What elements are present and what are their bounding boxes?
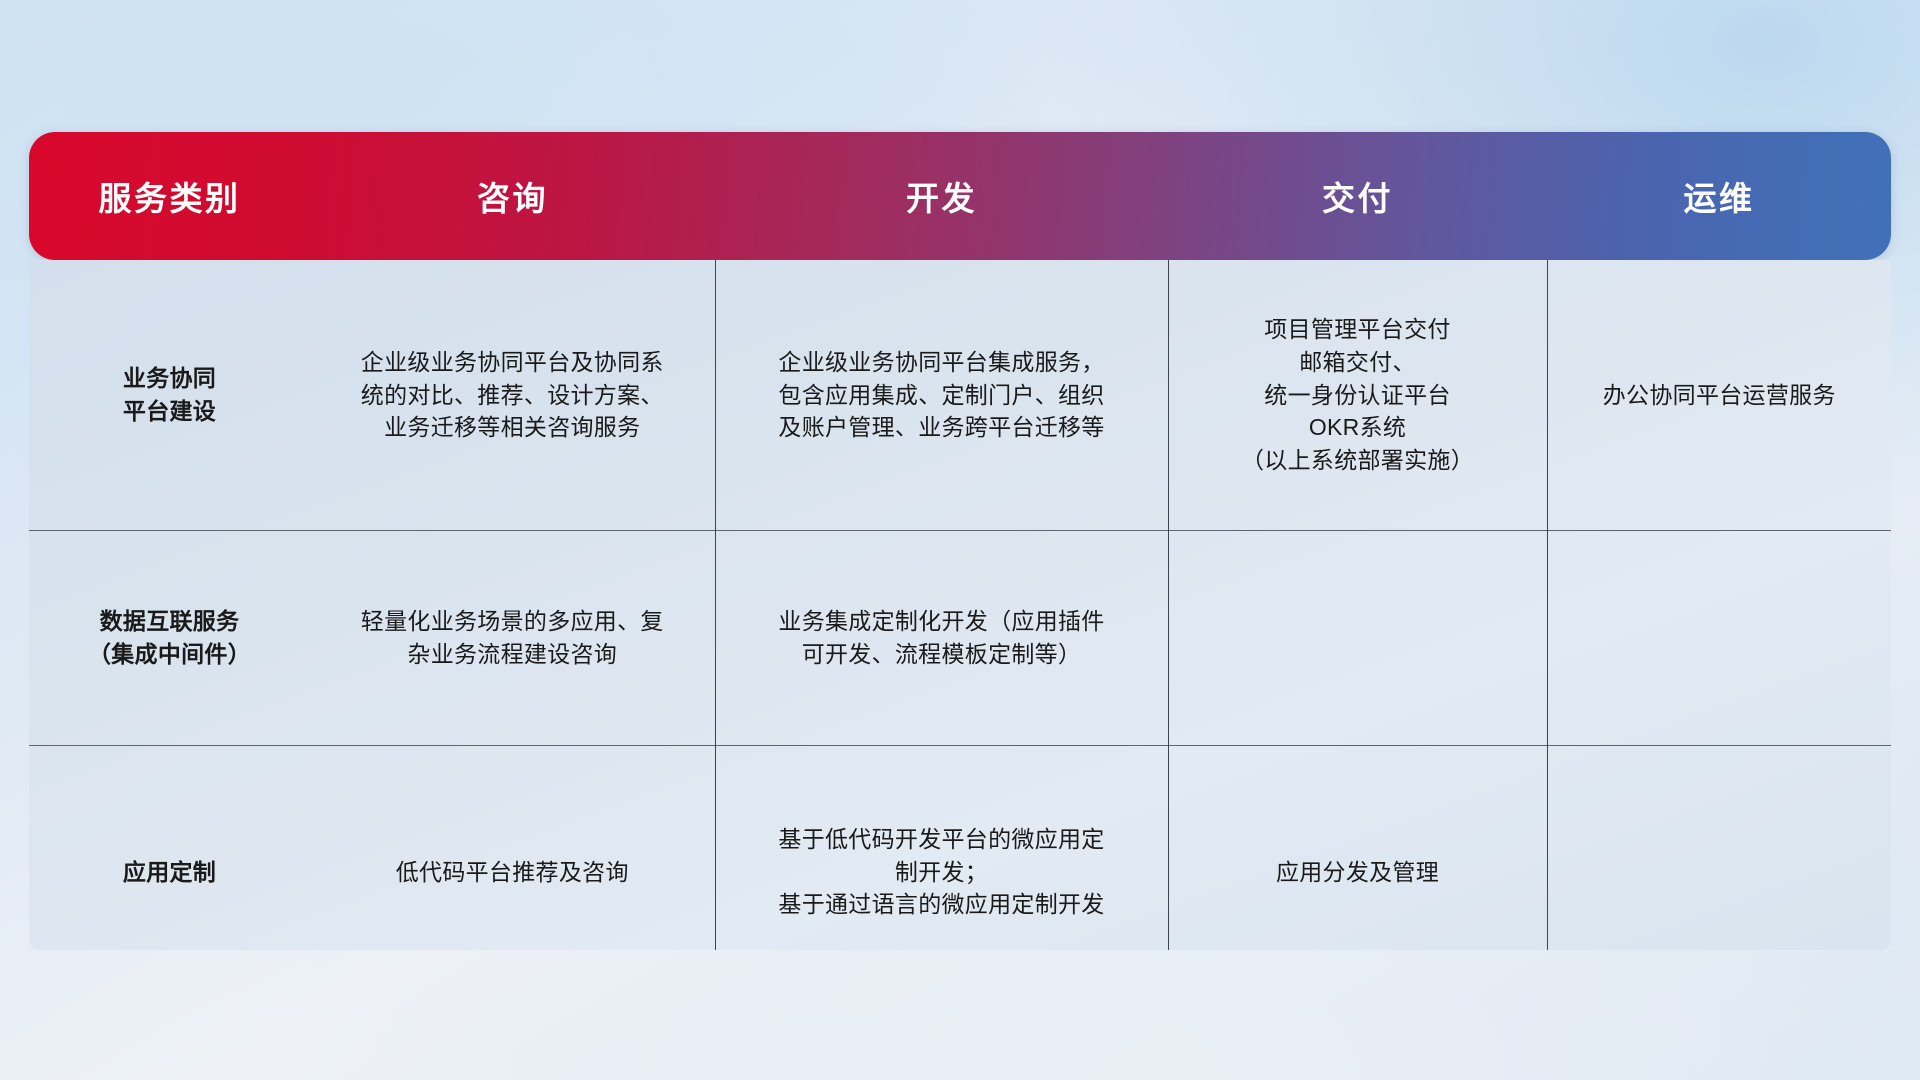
cell-delivery-row3: 应用分发及管理 — [1168, 746, 1547, 951]
column-header-label: 运维 — [1684, 172, 1755, 220]
cell-operations-row3 — [1547, 746, 1891, 951]
table-row: 数据互联服务 （集成中间件） 轻量化业务场景的多应用、复 杂业务流程建设咨询 业… — [29, 531, 1891, 746]
column-header-service-category: 服务类别 — [29, 132, 310, 260]
cell-development-row3: 基于低代码开发平台的微应用定 制开发； 基于通过语言的微应用定制开发 — [715, 746, 1168, 951]
cell-operations-row1: 办公协同平台运营服务 — [1547, 260, 1891, 531]
cell-consulting-row2: 轻量化业务场景的多应用、复 杂业务流程建设咨询 — [310, 531, 715, 746]
cell-development-row1: 企业级业务协同平台集成服务， 包含应用集成、定制门户、组织 及账户管理、业务跨平… — [715, 260, 1168, 531]
cell-delivery-row2 — [1168, 531, 1547, 746]
cell-operations-row2 — [1547, 531, 1891, 746]
column-header-label: 咨询 — [477, 172, 548, 220]
row-label-business-collaboration: 业务协同 平台建设 — [29, 260, 310, 531]
table-row: 业务协同 平台建设 企业级业务协同平台及协同系 统的对比、推荐、设计方案、 业务… — [29, 260, 1891, 531]
table-row: 应用定制 低代码平台推荐及咨询 基于低代码开发平台的微应用定 制开发； 基于通过… — [29, 746, 1891, 951]
table-body: 业务协同 平台建设 企业级业务协同平台及协同系 统的对比、推荐、设计方案、 业务… — [29, 260, 1891, 950]
cell-development-row2: 业务集成定制化开发（应用插件 可开发、流程模板定制等） — [715, 531, 1168, 746]
row-label-application-customization: 应用定制 — [29, 746, 310, 951]
row-label-data-interconnect: 数据互联服务 （集成中间件） — [29, 531, 310, 746]
column-header-delivery: 交付 — [1168, 132, 1547, 260]
table-header-row: 服务类别 咨询 开发 交付 运维 — [29, 132, 1891, 260]
column-header-development: 开发 — [715, 132, 1168, 260]
cell-delivery-row1: 项目管理平台交付 邮箱交付、 统一身份认证平台 OKR系统 （以上系统部署实施） — [1168, 260, 1547, 531]
column-header-label: 交付 — [1322, 172, 1393, 220]
column-header-label: 服务类别 — [99, 172, 241, 220]
cell-consulting-row1: 企业级业务协同平台及协同系 统的对比、推荐、设计方案、 业务迁移等相关咨询服务 — [310, 260, 715, 531]
column-header-label: 开发 — [906, 172, 977, 220]
cell-consulting-row3: 低代码平台推荐及咨询 — [310, 746, 715, 951]
column-header-consulting: 咨询 — [310, 132, 715, 260]
column-header-operations: 运维 — [1547, 132, 1891, 260]
slide-canvas: 服务类别 咨询 开发 交付 运维 业务协同 平台建设 — [0, 0, 1920, 1080]
service-matrix-table: 业务协同 平台建设 企业级业务协同平台及协同系 统的对比、推荐、设计方案、 业务… — [29, 260, 1891, 950]
